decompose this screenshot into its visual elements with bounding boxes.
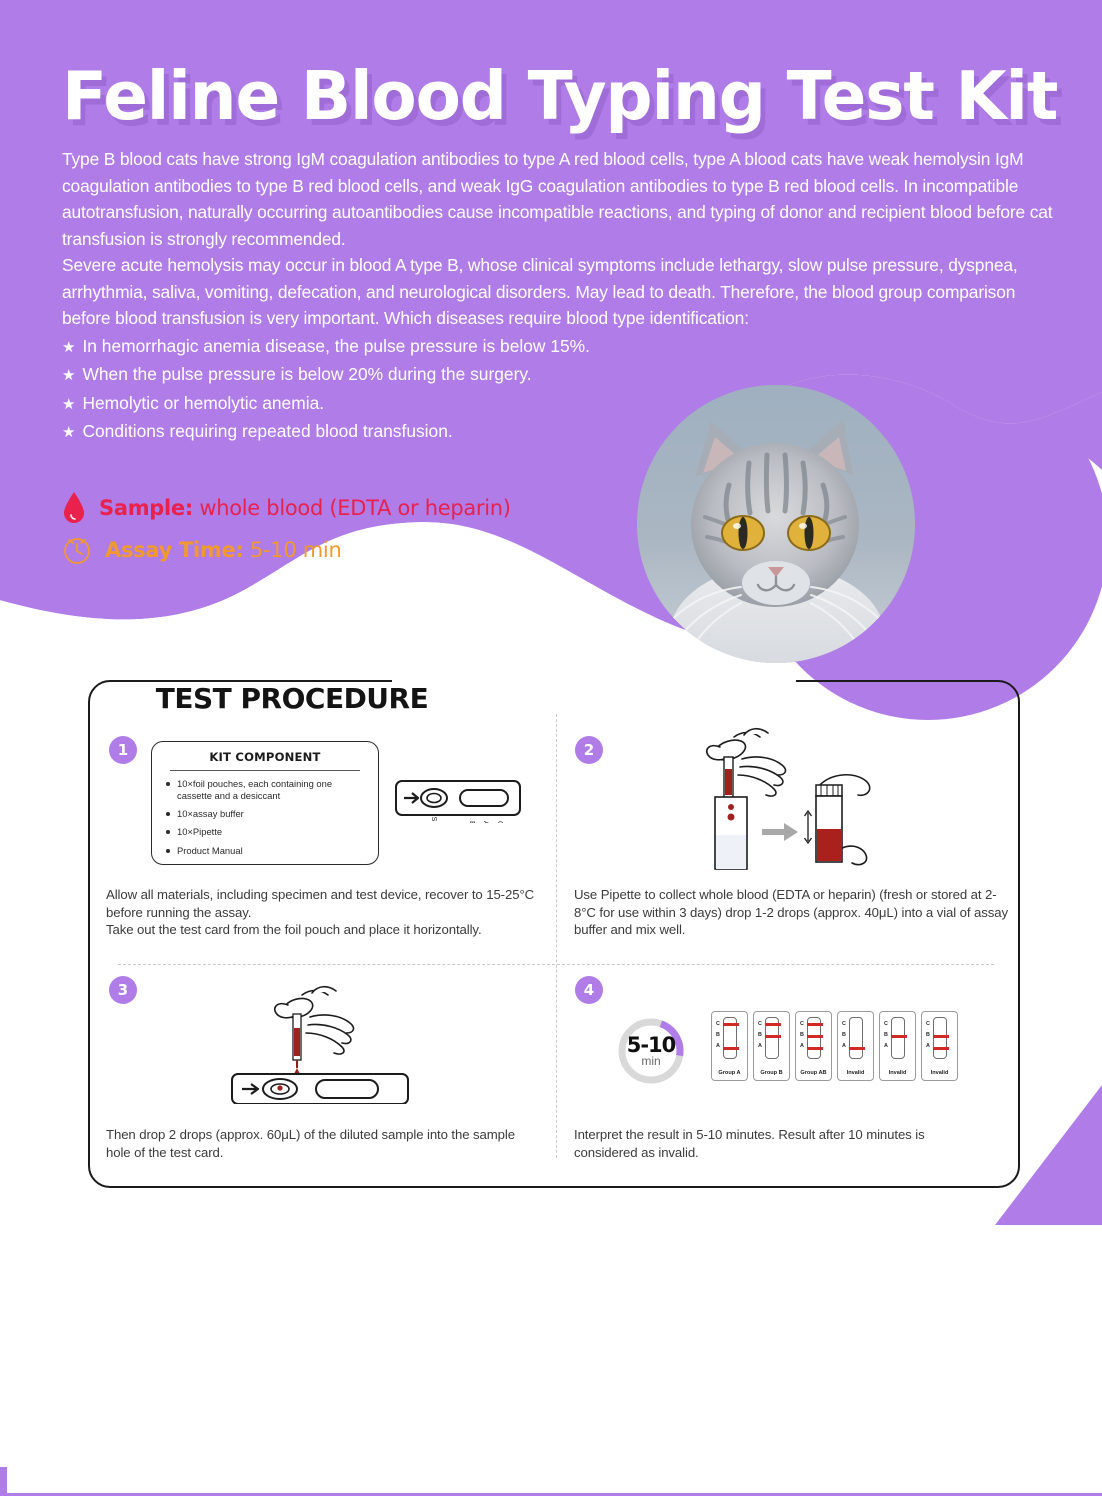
- pipette-vial-illustration-step2: [690, 725, 890, 870]
- result-window: [807, 1017, 821, 1059]
- band-letters: C B A: [716, 1019, 720, 1052]
- kit-item-label: Product Manual: [177, 845, 243, 857]
- band-b: [891, 1035, 907, 1038]
- bottom-accent-tick: [0, 1467, 7, 1493]
- list-item: ★ When the pulse pressure is below 20% d…: [62, 361, 1057, 390]
- intro-text: Type B blood cats have strong IgM coagul…: [62, 146, 1054, 332]
- blood-drop-icon: [62, 491, 86, 525]
- letter-c: C: [758, 1019, 762, 1030]
- kit-component-list: 10×foil pouches, each containing one cas…: [166, 778, 368, 856]
- letter-b: B: [926, 1030, 930, 1041]
- result-label: Group A: [712, 1070, 747, 1076]
- bullet-dot-icon: [166, 782, 170, 786]
- result-cassette: C B A Group AB: [795, 1011, 832, 1081]
- letter-a: A: [758, 1041, 762, 1052]
- letter-b: B: [716, 1030, 720, 1041]
- indication-list: ★ In hemorrhagic anemia disease, the pul…: [62, 333, 1057, 447]
- result-label: Invalid: [922, 1070, 957, 1076]
- band-label-a: A: [482, 821, 489, 823]
- list-item: ★ Hemolytic or hemolytic anemia.: [62, 390, 1057, 419]
- header: Feline Blood Typing Test Kit Type B bloo…: [62, 62, 1057, 447]
- step-number-1: 1: [109, 736, 137, 764]
- result-interpretation-chart: C B A Group A C B A Group B: [711, 1011, 958, 1081]
- step-number-4: 4: [575, 976, 603, 1004]
- procedure-title: TEST PROCEDURE: [90, 682, 494, 714]
- letter-b: B: [842, 1030, 846, 1041]
- band-letters: C B A: [800, 1019, 804, 1052]
- bullet-dot-icon: [166, 830, 170, 834]
- star-icon: ★: [62, 420, 75, 447]
- result-cassette: C B A Group A: [711, 1011, 748, 1081]
- band-label-b: B: [468, 821, 475, 823]
- letter-a: A: [800, 1041, 804, 1052]
- kit-component-title: KIT COMPONENT: [170, 750, 360, 771]
- band-b: [807, 1035, 823, 1038]
- letter-a: A: [884, 1041, 888, 1052]
- list-item: Product Manual: [166, 845, 368, 857]
- step-number-2: 2: [575, 736, 603, 764]
- band-a: [807, 1047, 823, 1050]
- band-b: [765, 1035, 781, 1038]
- list-item-label: When the pulse pressure is below 20% dur…: [82, 361, 531, 388]
- result-label: Group AB: [796, 1070, 831, 1076]
- band-a: [933, 1047, 949, 1050]
- star-icon: ★: [62, 363, 75, 390]
- test-card-illustration-step1: S B A C: [394, 779, 522, 823]
- band-label-c: C: [496, 821, 503, 823]
- list-item-label: Conditions requiring repeated blood tran…: [82, 418, 452, 445]
- specs-block: Sample: whole blood (EDTA or heparin) As…: [62, 487, 511, 571]
- letter-a: A: [842, 1041, 846, 1052]
- timer-indicator: 5-10 min: [616, 1016, 686, 1086]
- result-label: Group B: [754, 1070, 789, 1076]
- bullet-dot-icon: [166, 812, 170, 816]
- band-a: [849, 1047, 865, 1050]
- result-window: [765, 1017, 779, 1059]
- result-label: Invalid: [838, 1070, 873, 1076]
- band-letters: C B A: [884, 1019, 888, 1052]
- star-icon: ★: [62, 335, 75, 362]
- result-cassette: C B A Invalid: [921, 1011, 958, 1081]
- vertical-divider: [556, 714, 557, 1158]
- cat-photo: [637, 385, 915, 663]
- step-number-3: 3: [109, 976, 137, 1004]
- star-icon: ★: [62, 392, 75, 419]
- kit-item-label: 10×assay buffer: [177, 808, 244, 820]
- result-window: [891, 1017, 905, 1059]
- timer-ring-icon: [616, 1016, 686, 1086]
- result-cassette: C B A Invalid: [879, 1011, 916, 1081]
- letter-c: C: [716, 1019, 720, 1030]
- letter-b: B: [758, 1030, 762, 1041]
- list-item: 10×foil pouches, each containing one cas…: [166, 778, 368, 802]
- sample-label: Sample:: [99, 496, 193, 520]
- letter-c: C: [842, 1019, 846, 1030]
- band-c: [807, 1023, 823, 1026]
- letter-b: B: [884, 1030, 888, 1041]
- clock-icon: [62, 535, 92, 565]
- kit-item-label: 10×Pipette: [177, 826, 222, 838]
- list-item: ★ Conditions requiring repeated blood tr…: [62, 418, 1057, 447]
- assay-time-row: Assay Time: 5-10 min: [62, 529, 511, 571]
- cat-illustration: [637, 385, 915, 663]
- sample-well-label: S: [430, 817, 437, 822]
- result-window: [723, 1017, 737, 1059]
- result-window: [933, 1017, 947, 1059]
- band-letters: C B A: [758, 1019, 762, 1052]
- assay-label: Assay Time:: [105, 538, 244, 562]
- assay-value: 5-10 min: [250, 538, 342, 562]
- horizontal-divider: [118, 964, 994, 965]
- sample-value: whole blood (EDTA or heparin): [199, 496, 510, 520]
- list-item-label: Hemolytic or hemolytic anemia.: [82, 390, 324, 417]
- letter-a: A: [716, 1041, 720, 1052]
- band-letters: C B A: [926, 1019, 930, 1052]
- drop-sample-illustration-step3: [230, 982, 410, 1104]
- letter-c: C: [800, 1019, 804, 1030]
- band-a: [723, 1047, 739, 1050]
- band-letters: C B A: [842, 1019, 846, 1052]
- result-window: [849, 1017, 863, 1059]
- list-item: ★ In hemorrhagic anemia disease, the pul…: [62, 333, 1057, 362]
- letter-c: C: [884, 1019, 888, 1030]
- band-b: [933, 1035, 949, 1038]
- list-item-label: In hemorrhagic anemia disease, the pulse…: [82, 333, 590, 360]
- result-cassette: C B A Invalid: [837, 1011, 874, 1081]
- intro-paragraph-1: Type B blood cats have strong IgM coagul…: [62, 146, 1054, 252]
- kit-component-box: KIT COMPONENT 10×foil pouches, each cont…: [151, 741, 379, 865]
- band-c: [723, 1023, 739, 1026]
- sample-text: Sample: whole blood (EDTA or heparin): [99, 496, 511, 520]
- intro-paragraph-2: Severe acute hemolysis may occur in bloo…: [62, 252, 1054, 332]
- sample-row: Sample: whole blood (EDTA or heparin): [62, 487, 511, 529]
- letter-a: A: [926, 1041, 930, 1052]
- bullet-dot-icon: [166, 849, 170, 853]
- list-item: 10×Pipette: [166, 826, 368, 838]
- result-label: Invalid: [880, 1070, 915, 1076]
- assay-time-text: Assay Time: 5-10 min: [105, 538, 341, 562]
- band-c: [765, 1023, 781, 1026]
- page-title: Feline Blood Typing Test Kit: [62, 62, 1042, 130]
- kit-item-label: 10×foil pouches, each containing one cas…: [177, 778, 368, 802]
- result-cassette: C B A Group B: [753, 1011, 790, 1081]
- list-item: 10×assay buffer: [166, 808, 368, 820]
- letter-b: B: [800, 1030, 804, 1041]
- letter-c: C: [926, 1019, 930, 1030]
- poster-page: Feline Blood Typing Test Kit Type B bloo…: [0, 0, 1102, 1496]
